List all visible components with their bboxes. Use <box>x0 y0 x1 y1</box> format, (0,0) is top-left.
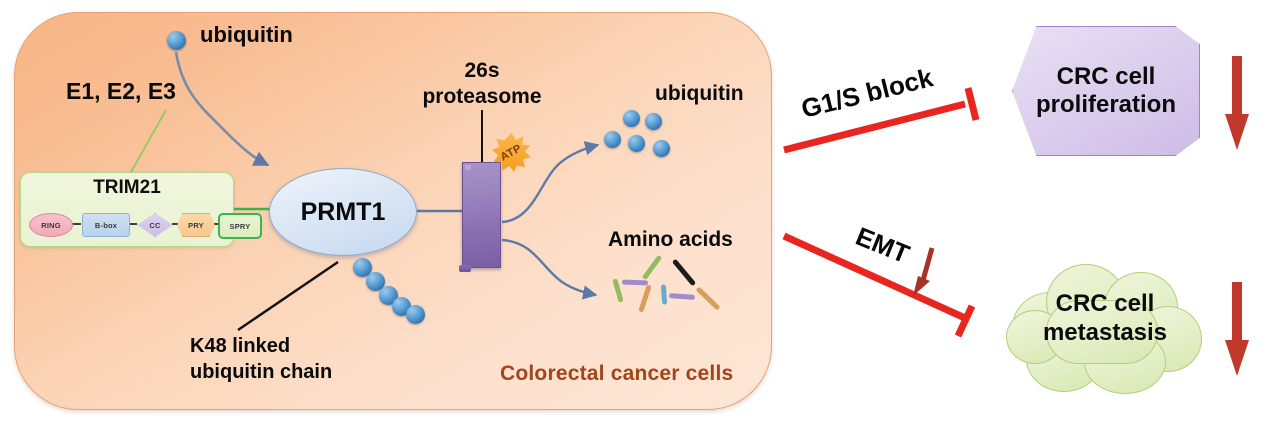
free-ubiquitin-1 <box>623 110 640 127</box>
diagram-canvas: Colorectal cancer cells ubiquitin <box>0 0 1269 422</box>
proteasome-node <box>462 162 501 268</box>
k48-chain-label-line2: ubiquitin chain <box>190 359 332 385</box>
trim21-box: TRIM21 RING B-box CC PRY SPRY <box>20 172 234 247</box>
cell-compartment-label: Colorectal cancer cells <box>500 362 733 386</box>
domain-link-3 <box>172 223 178 225</box>
amino-acid-stick-2 <box>622 280 648 286</box>
emt-label: EMT <box>851 221 914 270</box>
g1s-block-label: G1/S block <box>798 62 936 125</box>
free-ubiquitin-4 <box>628 135 645 152</box>
proteasome-label: 26s proteasome <box>412 58 552 111</box>
inhibition-bar-proliferation <box>968 88 976 120</box>
domain-bbox: B-box <box>82 213 130 237</box>
atp-label: ATP <box>499 142 524 163</box>
prmt1-node: PRMT1 <box>269 168 417 256</box>
proteasome-label-line1: 26s <box>412 58 552 84</box>
domain-spry: SPRY <box>218 213 262 239</box>
free-ubiquitin-3 <box>604 131 621 148</box>
down-arrow-metastasis <box>1224 282 1250 378</box>
outcome-proliferation-text: CRC cell proliferation <box>1036 63 1176 120</box>
domain-ring: RING <box>29 213 73 237</box>
chain-ubiquitin-5 <box>406 305 425 324</box>
outcome-metastasis-line2: metastasis <box>1006 319 1204 348</box>
k48-chain-label: K48 linked ubiquitin chain <box>190 333 332 385</box>
free-ubiquitin-2 <box>645 113 662 130</box>
e1-e2-e3-label: E1, E2, E3 <box>66 78 176 105</box>
outcome-proliferation-shape: CRC cell proliferation <box>1012 26 1200 156</box>
outcome-metastasis-shape: CRC cell metastasis <box>1006 256 1204 396</box>
free-ubiquitin-label: ubiquitin <box>655 82 744 106</box>
emt-down-arrow <box>913 248 932 296</box>
domain-link-1 <box>72 223 81 225</box>
domain-cc: CC <box>137 213 173 237</box>
outcome-proliferation-line1: CRC cell <box>1036 63 1176 91</box>
down-arrow-proliferation <box>1224 56 1250 152</box>
trim21-title: TRIM21 <box>21 177 233 199</box>
ubiquitin-top-label: ubiquitin <box>200 22 293 48</box>
outcome-metastasis-text: CRC cell metastasis <box>1006 290 1204 348</box>
proteasome-label-line2: proteasome <box>412 84 552 110</box>
k48-chain-label-line1: K48 linked <box>190 333 332 359</box>
outcome-metastasis-line1: CRC cell <box>1006 290 1204 319</box>
outcome-proliferation-line2: proliferation <box>1036 91 1176 119</box>
ubiquitin-sphere-source <box>167 31 186 50</box>
amino-acids-label: Amino acids <box>608 228 733 252</box>
inhibition-bar-metastasis <box>958 306 972 336</box>
trim21-domain-row: RING B-box CC PRY SPRY <box>27 209 227 239</box>
free-ubiquitin-5 <box>653 140 670 157</box>
domain-pry: PRY <box>177 213 215 237</box>
domain-link-2 <box>129 223 137 225</box>
